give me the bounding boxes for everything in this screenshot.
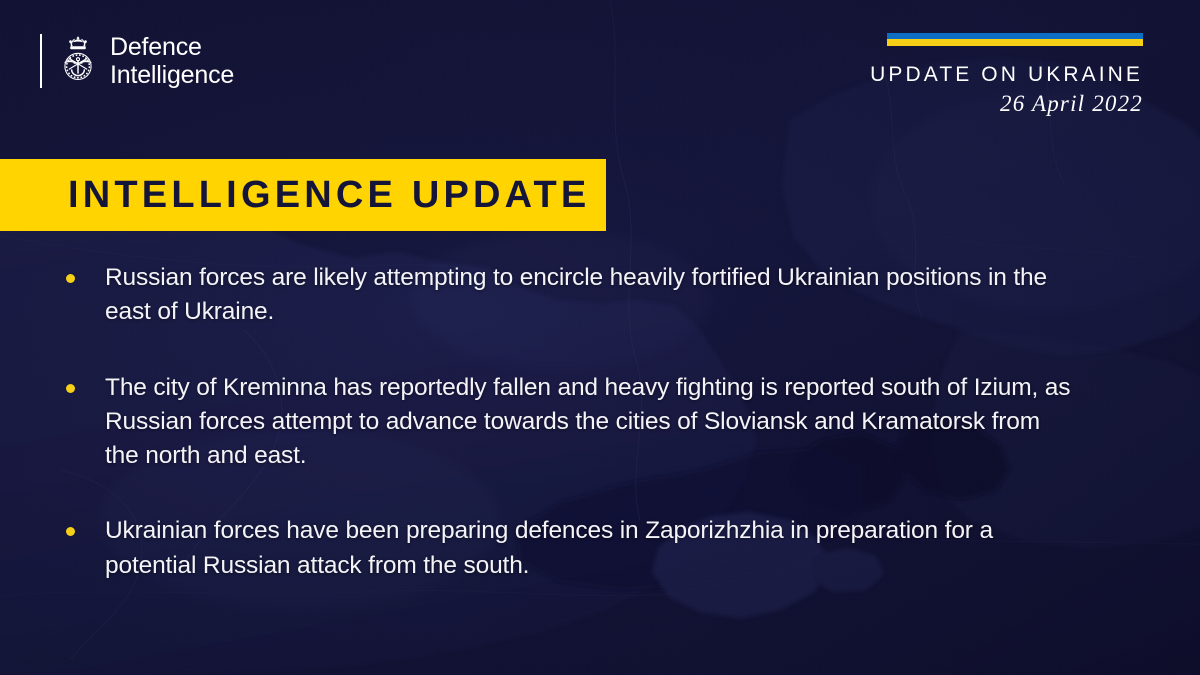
update-title: UPDATE ON UKRAINE bbox=[870, 63, 1143, 88]
vertical-rule-divider bbox=[40, 34, 42, 88]
update-date: 26 April 2022 bbox=[870, 90, 1143, 119]
brand-title-line1: Defence bbox=[110, 33, 234, 61]
intelligence-update-poster: Defence Intelligence UPDATE ON UKRAINE 2… bbox=[0, 0, 1200, 675]
intelligence-update-banner: INTELLIGENCE UPDATE bbox=[0, 159, 606, 231]
update-header-block: UPDATE ON UKRAINE 26 April 2022 bbox=[870, 33, 1143, 119]
bullet-text: Russian forces are likely attempting to … bbox=[105, 261, 1076, 330]
defence-intelligence-branding: Defence Intelligence bbox=[40, 33, 234, 90]
list-item: Russian forces are likely attempting to … bbox=[66, 261, 1076, 330]
bullet-dot-icon bbox=[66, 384, 75, 393]
banner-label: INTELLIGENCE UPDATE bbox=[68, 174, 590, 217]
bullet-dot-icon bbox=[66, 274, 75, 283]
list-item: The city of Kreminna has reportedly fall… bbox=[66, 371, 1076, 474]
bullet-dot-icon bbox=[66, 527, 75, 536]
list-item: Ukrainian forces have been preparing def… bbox=[66, 514, 1076, 583]
bullet-text: Ukrainian forces have been preparing def… bbox=[105, 514, 1076, 583]
ukraine-flag-bar bbox=[887, 33, 1143, 46]
brand-title: Defence Intelligence bbox=[110, 33, 234, 90]
bullet-list: Russian forces are likely attempting to … bbox=[66, 261, 1076, 583]
bullet-text: The city of Kreminna has reportedly fall… bbox=[105, 371, 1076, 474]
flag-yellow-stripe bbox=[887, 39, 1143, 46]
mod-crest-icon bbox=[58, 33, 98, 89]
brand-title-line2: Intelligence bbox=[110, 61, 234, 89]
